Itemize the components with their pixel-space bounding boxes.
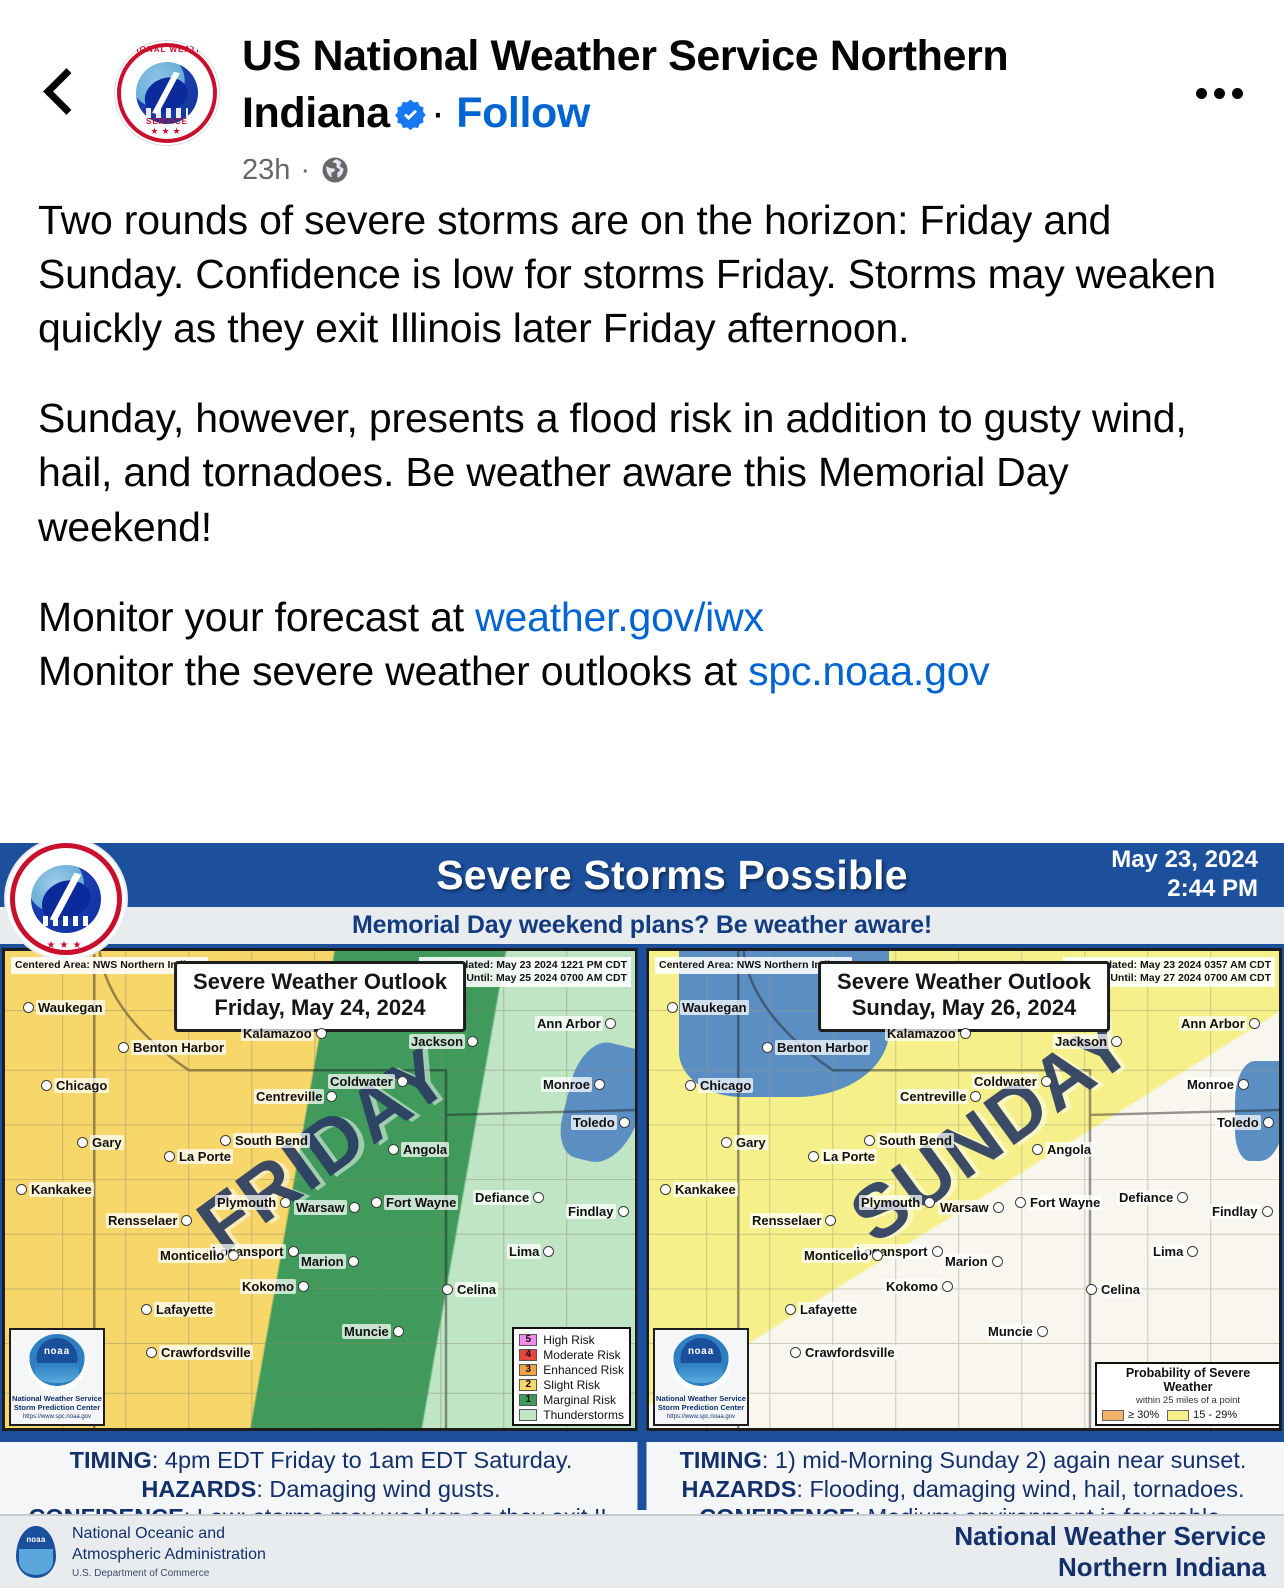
graphic-subtitle: Memorial Day weekend plans? Be weather a… bbox=[0, 907, 1284, 944]
friday-timing-key: TIMING bbox=[70, 1447, 152, 1473]
city-pin-icon bbox=[667, 1002, 678, 1013]
friday-timing-value: : 4pm EDT Friday to 1am EDT Saturday. bbox=[152, 1447, 573, 1473]
city-pin-icon bbox=[594, 1079, 605, 1090]
city-label: Warsaw bbox=[294, 1199, 360, 1217]
city-pin-icon bbox=[397, 1076, 408, 1087]
city-pin-icon bbox=[41, 1080, 52, 1091]
city-pin-icon bbox=[393, 1326, 404, 1337]
city-pin-icon bbox=[785, 1304, 796, 1315]
city-label: Crawfordsville bbox=[790, 1344, 897, 1362]
city-label: Gary bbox=[77, 1134, 124, 1152]
legend-row: 1Marginal Risk bbox=[519, 1392, 624, 1407]
city-name: Centreville bbox=[898, 1089, 968, 1104]
noaa-logo-icon-sunday: noaa bbox=[672, 1334, 730, 1392]
city-label: Marion bbox=[299, 1253, 359, 1271]
city-name: Jackson bbox=[1053, 1034, 1109, 1049]
city-pin-icon bbox=[660, 1184, 671, 1195]
city-name: Plymouth bbox=[215, 1195, 278, 1210]
back-button[interactable] bbox=[40, 56, 92, 126]
noaa-logo-icon: noaa bbox=[28, 1334, 86, 1392]
city-name: Warsaw bbox=[294, 1200, 347, 1215]
city-name: Ann Arbor bbox=[1179, 1016, 1247, 1031]
avatar-arc-top: NATIONAL WEATHER bbox=[114, 45, 220, 54]
city-label: La Porte bbox=[808, 1148, 877, 1166]
city-pin-icon bbox=[1263, 1117, 1274, 1128]
city-name: Kokomo bbox=[240, 1279, 296, 1294]
city-name: Muncie bbox=[986, 1324, 1035, 1339]
city-name: Defiance bbox=[1117, 1190, 1175, 1205]
city-label: Lafayette bbox=[141, 1301, 215, 1319]
post-header: NATIONAL WEATHER SERVICE ★★★ US National… bbox=[0, 0, 1284, 185]
friday-noaa-caption-2: Storm Prediction Center bbox=[12, 1403, 102, 1412]
map-divider bbox=[638, 944, 647, 1510]
city-name: Toledo bbox=[1215, 1115, 1261, 1130]
city-name: Coldwater bbox=[328, 1074, 395, 1089]
more-options-button[interactable] bbox=[1184, 58, 1254, 128]
city-label: Rensselaer bbox=[106, 1212, 192, 1230]
noaa-footer-logo-icon: noaa bbox=[10, 1524, 62, 1580]
graphic-title: Severe Storms Possible bbox=[0, 852, 1284, 899]
city-label: Kokomo bbox=[240, 1278, 309, 1296]
city-pin-icon bbox=[924, 1197, 935, 1208]
probability-label: ≥ 30% bbox=[1128, 1409, 1159, 1421]
city-pin-icon bbox=[960, 1028, 971, 1039]
graphic-footer: noaa National Oceanic and Atmospheric Ad… bbox=[0, 1514, 1284, 1588]
city-name: Benton Harbor bbox=[775, 1040, 870, 1055]
city-name: Monticello bbox=[802, 1248, 870, 1263]
city-name: Lafayette bbox=[798, 1302, 859, 1317]
probability-legend: Probability of Severe Weather within 25 … bbox=[1095, 1362, 1281, 1426]
city-name: Kokomo bbox=[884, 1279, 940, 1294]
city-label: Monroe bbox=[1185, 1076, 1249, 1094]
city-label: Coldwater bbox=[328, 1073, 408, 1091]
city-pin-icon bbox=[1086, 1284, 1097, 1295]
city-pin-icon bbox=[228, 1250, 239, 1261]
city-label: Kalamazoo bbox=[241, 1025, 327, 1043]
city-label: South Bend bbox=[220, 1132, 310, 1150]
sunday-noaa-credit: noaa National Weather Service Storm Pred… bbox=[653, 1328, 749, 1426]
friday-hazards-value: : Damaging wind gusts. bbox=[256, 1476, 500, 1502]
city-label: Centreville bbox=[254, 1088, 337, 1106]
friday-outlook-line1: Severe Weather Outlook bbox=[193, 969, 447, 995]
page-name-line1[interactable]: US National Weather Service Northern bbox=[242, 32, 1008, 80]
city-label: Benton Harbor bbox=[762, 1039, 870, 1057]
legend-label: Slight Risk bbox=[543, 1378, 600, 1392]
city-name: Fort Wayne bbox=[1028, 1195, 1102, 1210]
sunday-map[interactable]: Centered Area: NWS Northern Indiana Last… bbox=[646, 948, 1282, 1431]
city-name: Toledo bbox=[571, 1115, 617, 1130]
city-pin-icon bbox=[348, 1256, 359, 1267]
city-label: Defiance bbox=[473, 1189, 544, 1207]
city-label: Lima bbox=[1151, 1243, 1198, 1261]
city-label: Gary bbox=[721, 1134, 768, 1152]
city-label: Lima bbox=[507, 1243, 554, 1261]
city-pin-icon bbox=[932, 1246, 943, 1257]
nws-footer-line1: National Weather Service bbox=[954, 1521, 1266, 1552]
city-pin-icon bbox=[164, 1151, 175, 1162]
city-pin-icon bbox=[1187, 1246, 1198, 1257]
city-label: Lafayette bbox=[785, 1301, 859, 1319]
legend-row: 4Moderate Risk bbox=[519, 1347, 624, 1362]
city-name: Lima bbox=[507, 1244, 541, 1259]
graphic-datetime: May 23, 2024 2:44 PM bbox=[1111, 845, 1258, 904]
city-label: Kankakee bbox=[16, 1181, 94, 1199]
post-paragraph-1: Two rounds of severe storms are on the h… bbox=[38, 193, 1246, 355]
city-pin-icon bbox=[825, 1215, 836, 1226]
city-pin-icon bbox=[316, 1028, 327, 1039]
city-pin-icon bbox=[618, 1206, 629, 1217]
city-pin-icon bbox=[605, 1018, 616, 1029]
friday-outlook-label: Severe Weather Outlook Friday, May 24, 2… bbox=[174, 961, 466, 1032]
city-name: Kankakee bbox=[29, 1182, 94, 1197]
city-name: Monticello bbox=[158, 1248, 226, 1263]
spc-noaa-link[interactable]: spc.noaa.gov bbox=[748, 648, 990, 694]
city-pin-icon bbox=[970, 1091, 981, 1102]
city-pin-icon bbox=[619, 1117, 630, 1128]
city-label: Fort Wayne bbox=[1015, 1194, 1102, 1212]
nws-footer-text: National Weather Service Northern Indian… bbox=[954, 1521, 1266, 1583]
city-name: Lafayette bbox=[154, 1302, 215, 1317]
more-dot-2 bbox=[1214, 88, 1225, 99]
city-label: Muncie bbox=[986, 1323, 1048, 1341]
city-name: Rensselaer bbox=[106, 1213, 179, 1228]
city-name: La Porte bbox=[821, 1149, 877, 1164]
sunday-hazards-value: : Flooding, damaging wind, hail, tornado… bbox=[796, 1476, 1244, 1502]
probability-swatch bbox=[1102, 1410, 1124, 1421]
name-follow-separator: · bbox=[431, 89, 445, 137]
avatar-stars-icon: ★★★ bbox=[114, 127, 220, 136]
city-pin-icon bbox=[1238, 1079, 1249, 1090]
weather-graphic[interactable]: ★★★ Severe Storms Possible May 23, 2024 … bbox=[0, 843, 1284, 1588]
post-timestamp[interactable]: 23h bbox=[242, 154, 290, 187]
city-name: Celina bbox=[1099, 1282, 1142, 1297]
probability-item: ≥ 30% bbox=[1102, 1409, 1159, 1421]
sunday-timing-key: TIMING bbox=[680, 1447, 762, 1473]
city-label: Benton Harbor bbox=[118, 1039, 226, 1057]
graphic-banner: ★★★ Severe Storms Possible May 23, 2024 … bbox=[0, 843, 1284, 907]
audience-globe-icon[interactable] bbox=[320, 155, 350, 185]
legend-row: Thunderstorms bbox=[519, 1407, 624, 1422]
meta-separator: · bbox=[300, 154, 310, 187]
city-label: Monroe bbox=[541, 1076, 605, 1094]
more-dot-1 bbox=[1196, 88, 1207, 99]
city-pin-icon bbox=[1041, 1076, 1052, 1087]
city-label: Plymouth bbox=[859, 1194, 935, 1212]
city-pin-icon bbox=[23, 1002, 34, 1013]
city-pin-icon bbox=[1262, 1206, 1273, 1217]
city-name: South Bend bbox=[877, 1133, 954, 1148]
city-name: Marion bbox=[943, 1254, 990, 1269]
noaa-footer-text: National Oceanic and Atmospheric Adminis… bbox=[72, 1524, 266, 1581]
city-label: La Porte bbox=[164, 1148, 233, 1166]
city-name: Ann Arbor bbox=[535, 1016, 603, 1031]
friday-noaa-caption-1: National Weather Service bbox=[12, 1394, 102, 1403]
city-label: Angola bbox=[1032, 1141, 1093, 1159]
city-pin-icon bbox=[146, 1347, 157, 1358]
city-label: Crawfordsville bbox=[146, 1344, 253, 1362]
city-name: Centreville bbox=[254, 1089, 324, 1104]
city-pin-icon bbox=[685, 1080, 696, 1091]
city-label: Waukegan bbox=[23, 999, 105, 1017]
city-pin-icon bbox=[808, 1151, 819, 1162]
city-name: Muncie bbox=[342, 1324, 391, 1339]
city-label: Kankakee bbox=[660, 1181, 738, 1199]
legend-row: 3Enhanced Risk bbox=[519, 1362, 624, 1377]
city-label: Celina bbox=[442, 1281, 498, 1299]
city-name: Kankakee bbox=[673, 1182, 738, 1197]
city-pin-icon bbox=[298, 1281, 309, 1292]
city-pin-icon bbox=[141, 1304, 152, 1315]
city-label: South Bend bbox=[864, 1132, 954, 1150]
city-name: Chicago bbox=[698, 1078, 753, 1093]
legend-swatch: 4 bbox=[519, 1349, 537, 1361]
city-label: Kalamazoo bbox=[885, 1025, 971, 1043]
city-name: Benton Harbor bbox=[131, 1040, 226, 1055]
sunday-outlook-line1: Severe Weather Outlook bbox=[837, 969, 1091, 995]
city-label: Defiance bbox=[1117, 1189, 1188, 1207]
city-name: Monroe bbox=[541, 1077, 592, 1092]
city-name: Waukegan bbox=[680, 1000, 749, 1015]
avatar[interactable]: NATIONAL WEATHER SERVICE ★★★ bbox=[114, 40, 220, 146]
legend-label: Marginal Risk bbox=[543, 1393, 616, 1407]
city-name: Jackson bbox=[409, 1034, 465, 1049]
probability-swatch bbox=[1167, 1410, 1189, 1421]
city-pin-icon bbox=[467, 1036, 478, 1047]
city-label: Findlay bbox=[566, 1203, 629, 1221]
city-pin-icon bbox=[16, 1184, 27, 1195]
city-pin-icon bbox=[762, 1042, 773, 1053]
noaa-footer-line3: U.S. Department of Commerce bbox=[72, 1567, 266, 1580]
city-pin-icon bbox=[993, 1202, 1004, 1213]
verified-badge-icon bbox=[394, 98, 427, 131]
city-pin-icon bbox=[442, 1284, 453, 1295]
monitor-forecast-text: Monitor your forecast at bbox=[38, 594, 475, 640]
city-pin-icon bbox=[872, 1250, 883, 1261]
city-pin-icon bbox=[1111, 1036, 1122, 1047]
city-label: Rensselaer bbox=[750, 1212, 836, 1230]
sunday-outlook-line2: Sunday, May 26, 2024 bbox=[837, 995, 1091, 1021]
sunday-outlook-label: Severe Weather Outlook Sunday, May 26, 2… bbox=[818, 961, 1110, 1032]
probability-item: 15 - 29% bbox=[1167, 1409, 1237, 1421]
city-label: Warsaw bbox=[938, 1199, 1004, 1217]
city-label: Coldwater bbox=[972, 1073, 1052, 1091]
monitor-outlooks-text: Monitor the severe weather outlooks at bbox=[38, 648, 748, 694]
city-label: Jackson bbox=[409, 1033, 478, 1051]
legend-swatch bbox=[519, 1409, 537, 1421]
maps-container: Centered Area: NWS Northern Indiana Last… bbox=[0, 944, 1284, 1510]
sunday-noaa-url: https://www.spc.noaa.gov bbox=[667, 1414, 735, 1420]
nws-footer-line2: Northern Indiana bbox=[954, 1552, 1266, 1583]
legend-label: Enhanced Risk bbox=[543, 1363, 624, 1377]
friday-hazards-key: HAZARDS bbox=[141, 1476, 256, 1502]
city-name: Crawfordsville bbox=[159, 1345, 253, 1360]
city-label: Fort Wayne bbox=[371, 1194, 458, 1212]
legend-swatch: 1 bbox=[519, 1394, 537, 1406]
friday-noaa-url: https://www.spc.noaa.gov bbox=[23, 1414, 91, 1420]
city-pin-icon bbox=[77, 1137, 88, 1148]
back-chevron-icon bbox=[43, 68, 90, 115]
city-name: Coldwater bbox=[972, 1074, 1039, 1089]
post-body: Two rounds of severe storms are on the h… bbox=[0, 185, 1284, 698]
city-pin-icon bbox=[942, 1281, 953, 1292]
city-name: Kalamazoo bbox=[885, 1026, 958, 1041]
legend-label: Thunderstorms bbox=[543, 1408, 624, 1422]
legend-swatch: 2 bbox=[519, 1379, 537, 1391]
city-name: Gary bbox=[90, 1135, 124, 1150]
city-label: Findlay bbox=[1210, 1203, 1273, 1221]
city-label: Centreville bbox=[898, 1088, 981, 1106]
sunday-map-column: Centered Area: NWS Northern Indiana Last… bbox=[642, 944, 1284, 1510]
probability-legend-title: Probability of Severe Weather bbox=[1102, 1367, 1274, 1395]
city-name: Plymouth bbox=[859, 1195, 922, 1210]
legend-row: 5High Risk bbox=[519, 1332, 624, 1347]
city-name: Monroe bbox=[1185, 1077, 1236, 1092]
probability-label: 15 - 29% bbox=[1193, 1409, 1237, 1421]
post-paragraph-2: Sunday, however, presents a flood risk i… bbox=[38, 391, 1246, 553]
city-label: Chicago bbox=[685, 1077, 753, 1095]
city-pin-icon bbox=[280, 1197, 291, 1208]
city-pin-icon bbox=[349, 1202, 360, 1213]
city-pin-icon bbox=[1177, 1192, 1188, 1203]
city-label: Chicago bbox=[41, 1077, 109, 1095]
city-name: Warsaw bbox=[938, 1200, 991, 1215]
city-name: Findlay bbox=[566, 1204, 616, 1219]
city-name: Gary bbox=[734, 1135, 768, 1150]
legend-label: Moderate Risk bbox=[543, 1348, 620, 1362]
city-label: Celina bbox=[1086, 1281, 1142, 1299]
city-pin-icon bbox=[371, 1197, 382, 1208]
city-label: Ann Arbor bbox=[1179, 1015, 1260, 1033]
follow-button[interactable]: Follow bbox=[456, 89, 590, 137]
city-label: Waukegan bbox=[667, 999, 749, 1017]
city-label: Ann Arbor bbox=[535, 1015, 616, 1033]
city-pin-icon bbox=[118, 1042, 129, 1053]
city-pin-icon bbox=[1015, 1197, 1026, 1208]
city-label: Kokomo bbox=[884, 1278, 953, 1296]
city-pin-icon bbox=[1249, 1018, 1260, 1029]
city-pin-icon bbox=[992, 1256, 1003, 1267]
city-name: Kalamazoo bbox=[241, 1026, 314, 1041]
header-text-block: US National Weather Service Northern Ind… bbox=[242, 28, 1184, 187]
city-pin-icon bbox=[220, 1135, 231, 1146]
page-title: US National Weather Service Northern Ind… bbox=[242, 28, 1072, 142]
city-pin-icon bbox=[721, 1137, 732, 1148]
nws-seal-icon: ★★★ bbox=[6, 843, 126, 959]
city-name: Findlay bbox=[1210, 1204, 1260, 1219]
friday-map[interactable]: Centered Area: NWS Northern Indiana Last… bbox=[2, 948, 638, 1431]
city-name: La Porte bbox=[177, 1149, 233, 1164]
city-label: Jackson bbox=[1053, 1033, 1122, 1051]
city-pin-icon bbox=[533, 1192, 544, 1203]
city-label: Toledo bbox=[571, 1114, 630, 1132]
city-name: Chicago bbox=[54, 1078, 109, 1093]
city-label: Marion bbox=[943, 1253, 1003, 1271]
city-pin-icon bbox=[1032, 1144, 1043, 1155]
risk-legend: 5High Risk4Moderate Risk3Enhanced Risk2S… bbox=[512, 1327, 631, 1426]
avatar-globe-icon bbox=[136, 62, 198, 124]
city-name: Crawfordsville bbox=[803, 1345, 897, 1360]
post-links: Monitor your forecast at weather.gov/iwx… bbox=[38, 590, 1246, 698]
city-pin-icon bbox=[790, 1347, 801, 1358]
friday-outlook-line2: Friday, May 24, 2024 bbox=[193, 995, 447, 1021]
city-pin-icon bbox=[181, 1215, 192, 1226]
more-dot-3 bbox=[1232, 88, 1243, 99]
probability-legend-items: ≥ 30%15 - 29% bbox=[1102, 1409, 1274, 1421]
legend-row: 2Slight Risk bbox=[519, 1377, 624, 1392]
post-meta: 23h · bbox=[242, 154, 1184, 187]
friday-map-column: Centered Area: NWS Northern Indiana Last… bbox=[0, 944, 642, 1510]
city-name: Lima bbox=[1151, 1244, 1185, 1259]
graphic-time: 2:44 PM bbox=[1111, 874, 1258, 903]
city-name: Angola bbox=[401, 1142, 449, 1157]
sunday-timing-value: : 1) mid-Morning Sunday 2) again near su… bbox=[762, 1447, 1247, 1473]
city-name: Angola bbox=[1045, 1142, 1093, 1157]
city-name: South Bend bbox=[233, 1133, 310, 1148]
weather-gov-link[interactable]: weather.gov/iwx bbox=[475, 594, 764, 640]
city-name: Defiance bbox=[473, 1190, 531, 1205]
legend-swatch: 3 bbox=[519, 1364, 537, 1376]
city-label: Monticello bbox=[802, 1247, 883, 1265]
city-name: Marion bbox=[299, 1254, 346, 1269]
city-pin-icon bbox=[288, 1246, 299, 1257]
city-label: Plymouth bbox=[215, 1194, 291, 1212]
city-label: Monticello bbox=[158, 1247, 239, 1265]
city-label: Toledo bbox=[1215, 1114, 1274, 1132]
city-label: Muncie bbox=[342, 1323, 404, 1341]
sunday-noaa-caption-2: Storm Prediction Center bbox=[656, 1403, 746, 1412]
city-name: Rensselaer bbox=[750, 1213, 823, 1228]
city-label: Angola bbox=[388, 1141, 449, 1159]
city-pin-icon bbox=[388, 1144, 399, 1155]
city-pin-icon bbox=[543, 1246, 554, 1257]
noaa-footer-line2: Atmospheric Administration bbox=[72, 1545, 266, 1566]
sunday-hazards-key: HAZARDS bbox=[682, 1476, 797, 1502]
legend-label: High Risk bbox=[543, 1333, 594, 1347]
friday-noaa-credit: noaa National Weather Service Storm Pred… bbox=[9, 1328, 105, 1426]
city-name: Waukegan bbox=[36, 1000, 105, 1015]
city-pin-icon bbox=[864, 1135, 875, 1146]
legend-swatch: 5 bbox=[519, 1334, 537, 1346]
city-name: Celina bbox=[455, 1282, 498, 1297]
city-name: Fort Wayne bbox=[384, 1195, 458, 1210]
page-name-line2[interactable]: Indiana bbox=[242, 89, 390, 137]
probability-legend-subtitle: within 25 miles of a point bbox=[1102, 1395, 1274, 1406]
city-pin-icon bbox=[326, 1091, 337, 1102]
sunday-noaa-caption-1: National Weather Service bbox=[656, 1394, 746, 1403]
avatar-arc-bottom: SERVICE bbox=[114, 117, 220, 126]
city-pin-icon bbox=[1037, 1326, 1048, 1337]
noaa-footer-line1: National Oceanic and bbox=[72, 1524, 266, 1545]
graphic-date: May 23, 2024 bbox=[1111, 845, 1258, 874]
